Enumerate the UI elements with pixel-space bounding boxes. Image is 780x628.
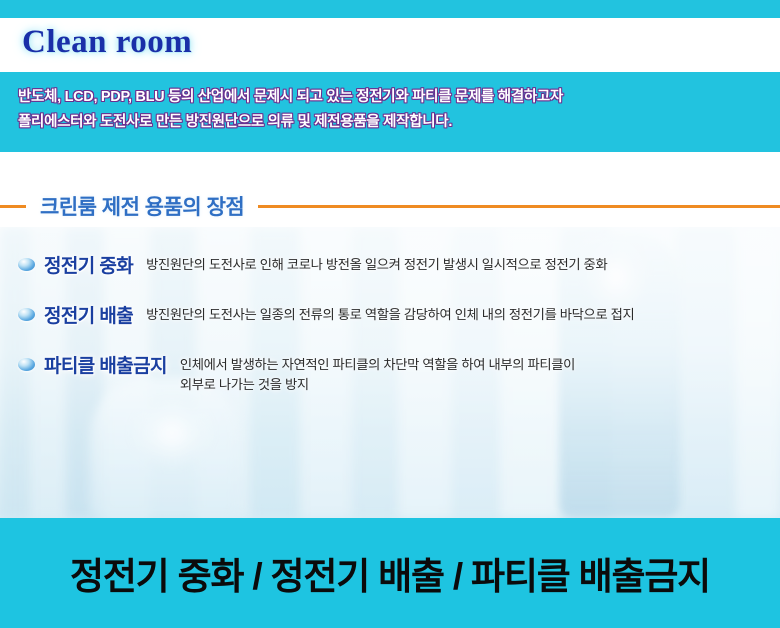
benefit-label: 정전기 배출 bbox=[44, 301, 133, 328]
clean-room-product-page: Clean room 반도체, LCD, PDP, BLU 등의 산업에서 문제… bbox=[0, 0, 780, 628]
benefit-label: 파티클 배출금지 bbox=[44, 351, 167, 378]
benefit-description: 방진원단의 도전사로 인해 코로나 방전올 일으켜 정전기 발생시 일시적으로 … bbox=[146, 255, 607, 275]
benefit-description: 인체에서 발생하는 자연적인 파티클의 차단막 역할을 하여 내부의 파티클이 … bbox=[180, 355, 575, 395]
benefit-item-static-discharge: 정전기 배출 방진원단의 도전사는 일종의 전류의 통로 역할을 감당하여 인체… bbox=[18, 299, 634, 328]
content-gap bbox=[0, 152, 780, 185]
rule-left-decoration bbox=[0, 205, 26, 208]
intro-banner-line-2: 폴리에스터와 도전사로 만든 방진원단으로 의류 및 제전용품을 제작합니다. bbox=[18, 110, 762, 135]
cleanroom-photo-area: 정전기 중화 방진원단의 도전사로 인해 코로나 방전올 일으켜 정전기 발생시… bbox=[0, 227, 780, 518]
footer-banner-text: 정전기 중화 / 정전기 배출 / 파티클 배출금지 bbox=[70, 546, 710, 600]
intro-banner: 반도체, LCD, PDP, BLU 등의 산업에서 문제시 되고 있는 정전기… bbox=[0, 72, 780, 152]
section-title: 크린룸 제전 용품의 장점 bbox=[26, 191, 258, 221]
benefit-description-line-1: 인체에서 발생하는 자연적인 파티클의 차단막 역할을 하여 내부의 파티클이 bbox=[180, 357, 575, 372]
benefit-label: 정전기 중화 bbox=[44, 251, 133, 278]
bullet-dot-icon bbox=[18, 258, 35, 271]
footer-banner: 정전기 중화 / 정전기 배출 / 파티클 배출금지 bbox=[0, 518, 780, 628]
page-title: Clean room bbox=[22, 24, 192, 61]
benefit-item-particle-block: 파티클 배출금지 인체에서 발생하는 자연적인 파티클의 차단막 역할을 하여 … bbox=[18, 349, 575, 395]
bullet-dot-icon bbox=[18, 358, 35, 371]
benefit-description: 방진원단의 도전사는 일종의 전류의 통로 역할을 감당하여 인체 내의 정전기… bbox=[146, 305, 634, 325]
title-zone: Clean room bbox=[0, 18, 780, 72]
benefit-description-line-1: 방진원단의 도전사로 인해 코로나 방전올 일으켜 정전기 발생시 일시적으로 … bbox=[146, 257, 607, 272]
benefit-description-line-1: 방진원단의 도전사는 일종의 전류의 통로 역할을 감당하여 인체 내의 정전기… bbox=[146, 307, 634, 322]
benefit-item-static-neutralization: 정전기 중화 방진원단의 도전사로 인해 코로나 방전올 일으켜 정전기 발생시… bbox=[18, 249, 607, 278]
bullet-dot-icon bbox=[18, 308, 35, 321]
section-heading: 크린룸 제전 용품의 장점 bbox=[0, 185, 780, 227]
benefit-description-line-2: 외부로 나가는 것을 방지 bbox=[180, 375, 575, 395]
rule-right-decoration bbox=[258, 205, 780, 208]
intro-banner-line-1: 반도체, LCD, PDP, BLU 등의 산업에서 문제시 되고 있는 정전기… bbox=[18, 85, 762, 110]
top-accent-strip bbox=[0, 0, 780, 18]
